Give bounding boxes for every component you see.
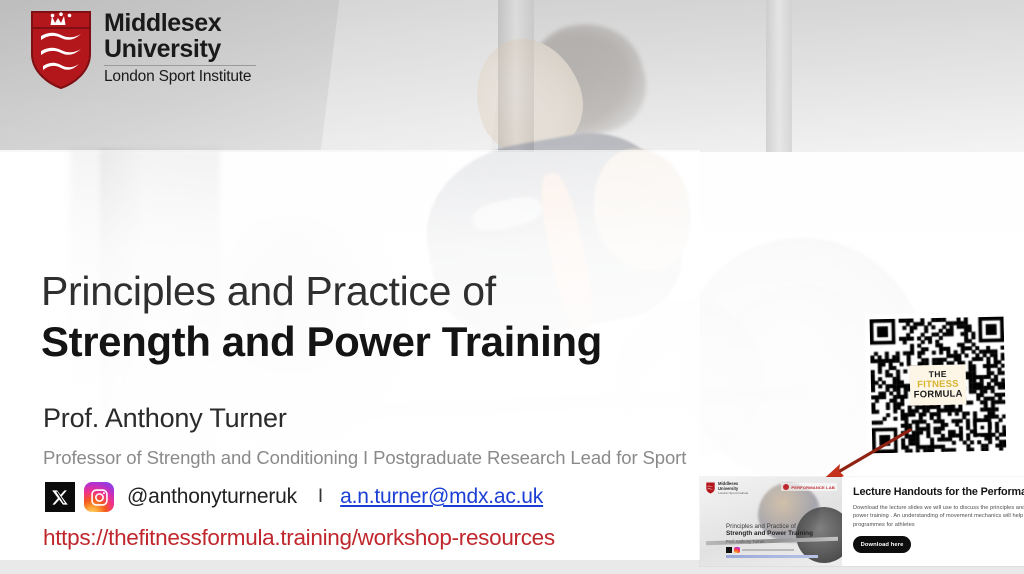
lecture-handout-card[interactable]: Middlesex University London Sport Instit… [700,477,1024,566]
presenter-name: Prof. Anthony Turner [43,403,287,434]
social-handle: @anthonyturneruk [127,485,297,509]
logo-line-1: Middlesex [104,10,272,36]
x-twitter-icon[interactable] [45,482,75,512]
card-description: Download the lecture slides we will use … [853,504,1024,529]
qr-logo-line-3: FORMULA [914,390,963,402]
thumb-text-line [742,549,794,551]
thumb-slide-line-1: Principles and Practice of [726,523,796,530]
presentation-slide: Middlesex University London Sport Instit… [0,0,1024,574]
thumb-badge-label: PERFORMANCE LAB [791,485,835,490]
x-glyph [52,489,69,506]
logo-subtitle: London Sport Institute [104,68,272,86]
social-separator: I [318,486,323,508]
instagram-icon[interactable] [84,482,114,512]
thumb-slide-line-3: Prof. Anthony Turner [726,539,764,544]
university-logo-text: Middlesex University London Sport Instit… [104,10,272,86]
download-here-button[interactable]: Download here [853,536,911,553]
instagram-glyph [90,488,109,507]
thumb-x-icon [726,547,732,553]
workshop-resources-url[interactable]: https://thefitnessformula.training/works… [43,525,555,551]
slide-title-line-2: Strength and Power Training [41,318,602,366]
thumb-social-row [726,547,794,553]
card-title: Lecture Handouts for the Performance Lab [853,486,1024,498]
qr-center-logo: THE FITNESS FORMULA [910,364,967,405]
card-thumbnail: Middlesex University London Sport Instit… [700,477,842,566]
thumb-instagram-icon [734,547,740,553]
performance-lab-mark-icon [783,484,789,490]
presenter-role: Professor of Strength and Conditioning I… [43,447,686,469]
logo-divider [104,65,256,66]
email-link[interactable]: a.n.turner@mdx.ac.uk [340,485,543,509]
slide-title-line-1: Principles and Practice of [41,268,496,315]
university-logo: Middlesex University London Sport Instit… [22,8,272,112]
logo-line-2: University [104,36,272,62]
thumb-university-logo: Middlesex University London Sport Instit… [706,482,748,495]
thumb-url-line [726,555,818,558]
middlesex-shield-icon [30,10,92,90]
card-body: Lecture Handouts for the Performance Lab… [842,477,1024,566]
social-contact-row: @anthonyturneruk I a.n.turner@mdx.ac.uk [45,482,543,512]
thumb-shield-icon [706,482,715,494]
thumb-slide-line-2: Strength and Power Training [726,530,813,537]
thumb-logo-sub: London Sport Institute [718,491,748,495]
thumb-performance-lab-badge: PERFORMANCE LAB [781,483,837,491]
